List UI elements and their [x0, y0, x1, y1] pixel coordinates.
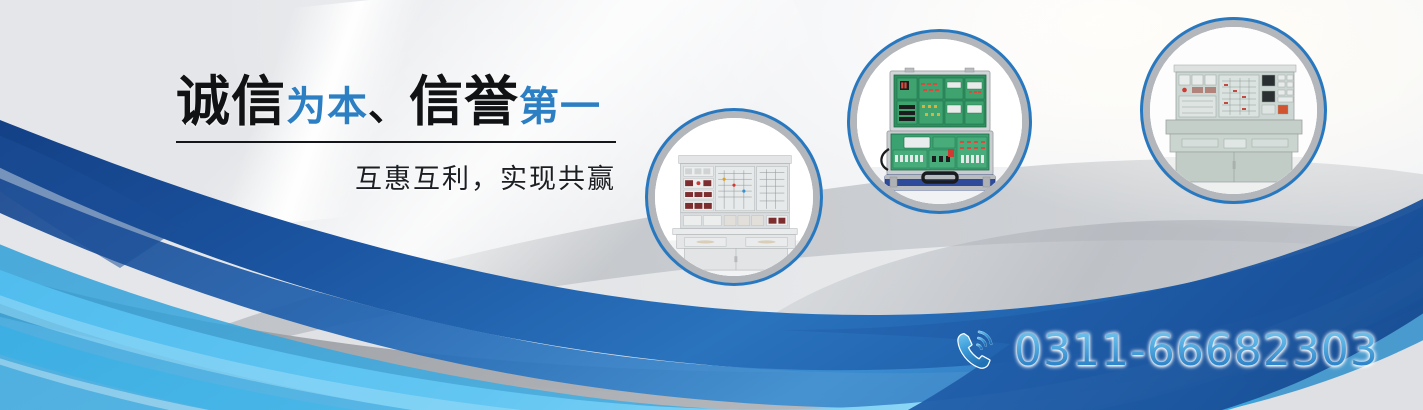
- product-circle-2[interactable]: [857, 39, 1022, 204]
- motor-electrical-lab-bench-icon: [1150, 27, 1317, 194]
- portable-electronics-training-case-icon: [857, 39, 1022, 204]
- product-photo-lab-bench: [1150, 27, 1317, 194]
- headline-block: 诚信为本、信誉第一 互惠互利，实现共赢: [176, 74, 656, 196]
- headline-part1-dark: 诚信: [176, 70, 286, 133]
- headline-part2-blue: 第一: [519, 84, 601, 130]
- phone-number[interactable]: 0311-66682303: [1014, 325, 1379, 376]
- page-title: 诚信为本、信誉第一: [176, 74, 656, 130]
- promotional-banner: 诚信为本、信誉第一 互惠互利，实现共赢: [0, 0, 1423, 410]
- page-subtitle: 互惠互利，实现共赢: [176, 157, 616, 196]
- electrical-training-workbench-icon: [655, 118, 813, 276]
- headline-divider: [176, 141, 616, 143]
- headline-part1-blue: 为本: [286, 84, 368, 130]
- phone-call-icon: [952, 328, 998, 374]
- headline-part2-dark: 信誉: [409, 70, 519, 133]
- contact-block[interactable]: 0311-66682303: [952, 325, 1379, 376]
- product-circle-1[interactable]: [655, 118, 813, 276]
- product-photo-workbench: [655, 118, 813, 276]
- product-circle-3[interactable]: [1150, 27, 1317, 194]
- headline-punctuation: 、: [368, 84, 409, 130]
- product-photo-training-case: [857, 39, 1022, 204]
